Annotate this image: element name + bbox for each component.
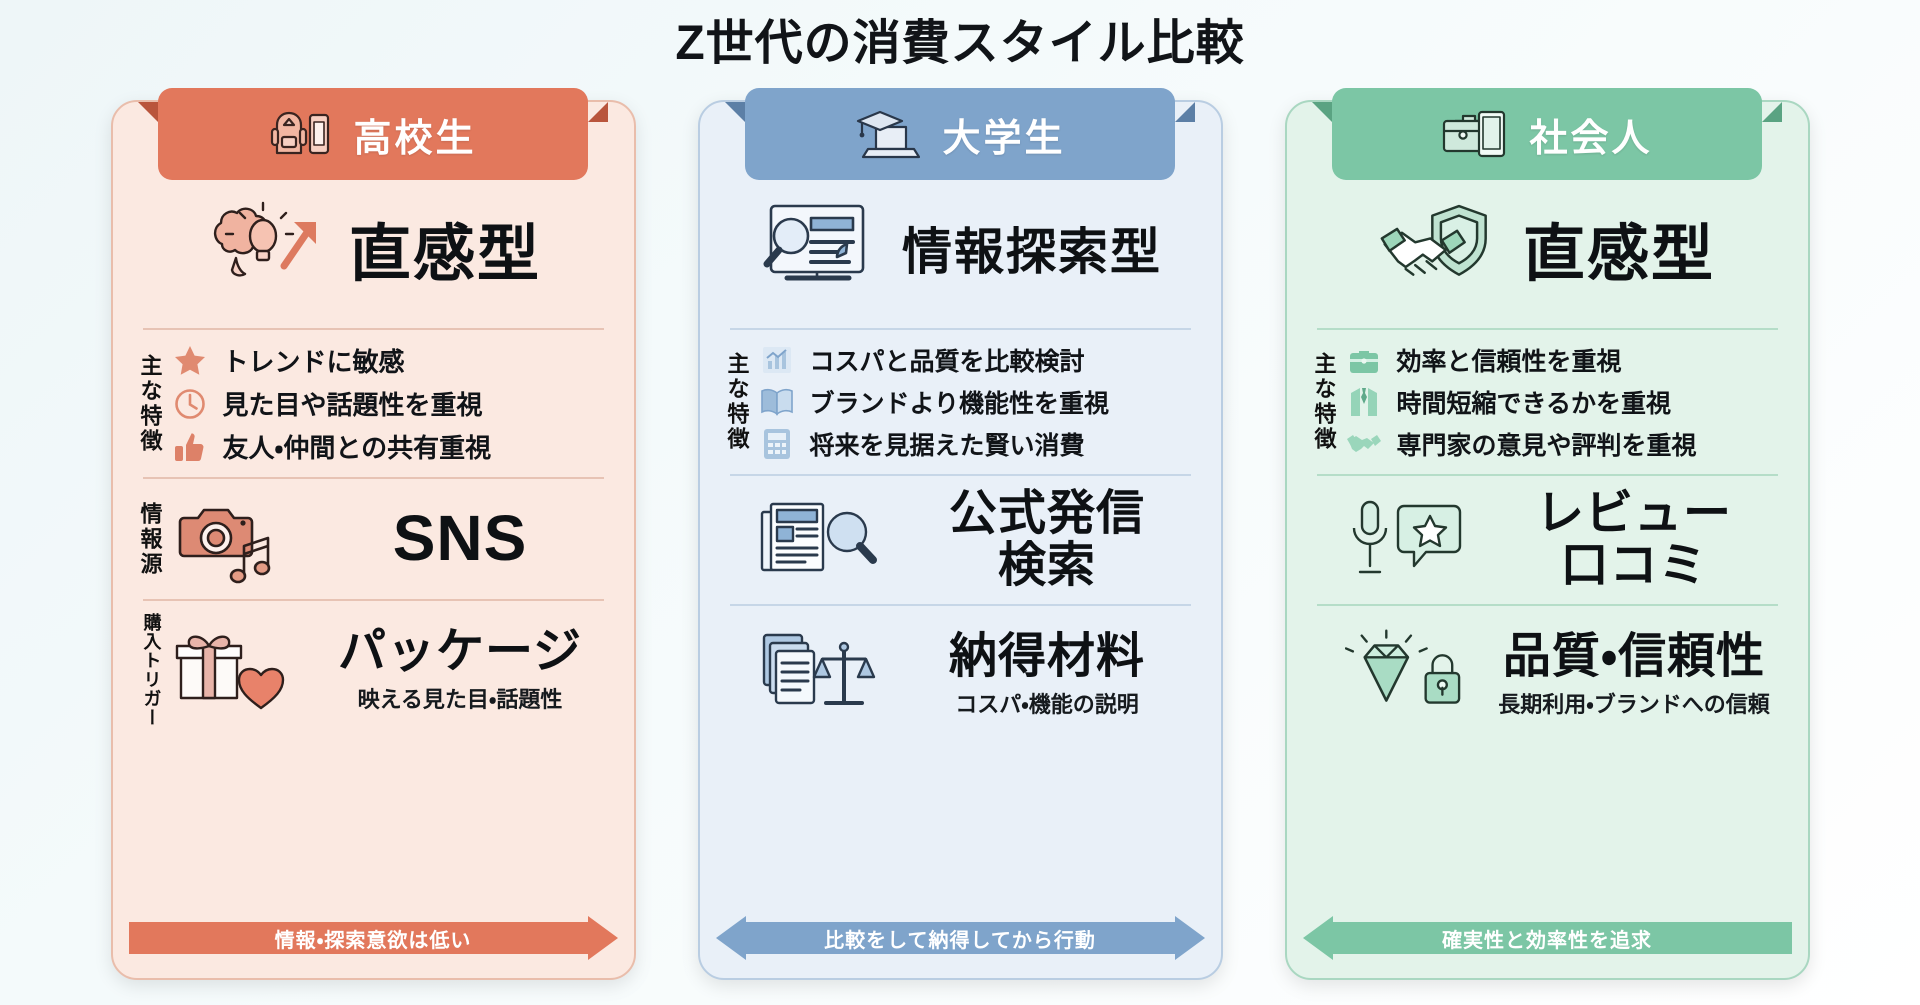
source-label: 情報源	[131, 502, 161, 577]
source-value: レビュー 口コミ	[1479, 488, 1790, 592]
source-value: SNS	[305, 504, 616, 573]
briefcase-icon	[1345, 343, 1383, 377]
handshake-shield-icon	[1379, 200, 1499, 296]
clock-icon	[171, 387, 209, 421]
source-main: 公式発信 検索	[892, 488, 1203, 592]
trigger-value: 納得材料 コスパ・機能の説明	[892, 631, 1203, 719]
feature-item: 専門家の意見や評判を重視	[1345, 426, 1790, 462]
card-ribbon-label: 大学生	[942, 107, 1065, 162]
handshake-icon	[1345, 427, 1383, 461]
source-section: 情報源	[700, 476, 1221, 604]
card-type-name: 情報探索型	[902, 212, 1162, 284]
card-ribbon-header: 高校生	[158, 88, 588, 180]
card-type-name: 直感型	[1523, 203, 1715, 293]
feature-item: 効率と信頼性を重視	[1345, 342, 1790, 378]
footer-wrap: 情報・探索意欲は低い	[113, 916, 634, 978]
newspaper-magnifier-icon	[758, 492, 878, 588]
star-icon	[171, 344, 209, 378]
features-label: 主な特徴	[718, 352, 748, 452]
trigger-section: 購入トリガー	[700, 606, 1221, 744]
camera-music-icon	[171, 491, 291, 587]
card-ribbon-label: 高校生	[353, 107, 476, 162]
feature-item: コスパと品質を比較検討	[758, 342, 1203, 378]
footer-text: 確実性と効率性を追求	[1442, 924, 1652, 953]
trigger-main: パッケージ	[305, 626, 616, 678]
feature-text: 将来を見据えた賢い消費	[810, 426, 1085, 462]
features-section: 主な特徴 トレンドに敏感 見た目や話題	[113, 330, 634, 477]
trigger-sub: 映える見た目・話題性	[305, 682, 616, 714]
arrow-head-right	[1175, 916, 1205, 960]
arrow-head-right	[588, 916, 618, 960]
trigger-main: 納得材料	[892, 631, 1203, 683]
microphone-review-icon	[1345, 492, 1465, 588]
trigger-main: 品質・信頼性	[1479, 631, 1790, 683]
bar-chart-icon	[758, 343, 796, 377]
feature-text: 時間短縮できるかを重視	[1397, 384, 1672, 420]
source-main: SNS	[393, 502, 528, 574]
features-section: 主な特徴 効率と信頼性を重視 時間短縮	[1287, 330, 1808, 474]
trigger-label: 購入トリガー	[131, 613, 161, 727]
features-label: 主な特徴	[1305, 352, 1335, 452]
footer-wrap: 比較をして納得してから行動	[700, 916, 1221, 978]
briefcase-tablet-icon	[1441, 107, 1507, 161]
monitor-search-icon	[758, 200, 878, 296]
infographic-page: Z世代の消費スタイル比較	[0, 0, 1920, 1005]
open-book-icon	[758, 385, 796, 419]
card-type-row: 情報探索型	[700, 168, 1221, 328]
footer-text: 比較をして納得してから行動	[824, 924, 1096, 953]
feature-text: 効率と信頼性を重視	[1397, 342, 1622, 378]
feature-text: コスパと品質を比較検討	[810, 342, 1085, 378]
arrow-head-left	[1303, 916, 1333, 960]
card-type-name: 直感型	[349, 203, 541, 293]
feature-text: 専門家の意見や評判を重視	[1397, 426, 1697, 462]
card-ribbon-label: 社会人	[1529, 107, 1652, 162]
card-type-row: 直感型	[113, 168, 634, 328]
feature-text: 見た目や話題性を重視	[223, 385, 483, 422]
card-ribbon-header: 社会人	[1332, 88, 1762, 180]
feature-item: トレンドに敏感	[171, 342, 616, 379]
features-section: 主な特徴 コスパと品質を比較検討 ブラ	[700, 330, 1221, 474]
footer-arrow: 情報・探索意欲は低い	[129, 916, 618, 960]
card-high-school: 高校生 直感型	[111, 100, 636, 980]
source-section: 情報源	[113, 479, 634, 599]
backpack-smartphone-icon	[269, 107, 331, 161]
footer-text: 情報・探索意欲は低い	[275, 924, 472, 953]
footer-wrap: 確実性と効率性を追求	[1287, 916, 1808, 978]
trigger-sub: コスパ・機能の説明	[892, 687, 1203, 719]
gift-heart-icon	[171, 622, 291, 718]
features-label: 主な特徴	[131, 354, 161, 454]
feature-item: 見た目や話題性を重視	[171, 385, 616, 422]
thumbs-up-icon	[171, 430, 209, 464]
brain-lightbulb-arrow-icon	[205, 200, 325, 296]
page-title: Z世代の消費スタイル比較	[0, 0, 1920, 71]
feature-item: 時間短縮できるかを重視	[1345, 384, 1790, 420]
source-main: レビュー 口コミ	[1479, 488, 1790, 592]
card-working-adult: 社会人 直感型	[1285, 100, 1810, 980]
card-type-row: 直感型	[1287, 168, 1808, 328]
trigger-section: 購入トリガー	[113, 601, 634, 739]
source-value: 公式発信 検索	[892, 488, 1203, 592]
footer-arrow: 確実性と効率性を追求	[1303, 916, 1792, 960]
diamond-lock-icon	[1345, 627, 1465, 723]
trigger-sub: 長期利用・ブランドへの信頼	[1479, 687, 1790, 719]
card-ribbon-header: 大学生	[745, 88, 1175, 180]
suit-tie-icon	[1345, 385, 1383, 419]
arrow-head-left	[716, 916, 746, 960]
feature-item: 将来を見据えた賢い消費	[758, 426, 1203, 462]
feature-text: ブランドより機能性を重視	[810, 384, 1110, 420]
feature-text: トレンドに敏感	[223, 342, 405, 379]
feature-item: 友人・仲間との共有重視	[171, 428, 616, 465]
documents-scale-icon	[758, 627, 878, 723]
trigger-value: パッケージ 映える見た目・話題性	[305, 626, 616, 714]
source-section: 情報源 レ	[1287, 476, 1808, 604]
cards-row: 高校生 直感型	[0, 100, 1920, 990]
feature-item: ブランドより機能性を重視	[758, 384, 1203, 420]
trigger-section: 購入トリガー	[1287, 606, 1808, 744]
graduation-cap-laptop-icon	[854, 107, 920, 161]
trigger-value: 品質・信頼性 長期利用・ブランドへの信頼	[1479, 631, 1790, 719]
card-university: 大学生	[698, 100, 1223, 980]
calculator-icon	[758, 427, 796, 461]
footer-arrow: 比較をして納得してから行動	[716, 916, 1205, 960]
feature-text: 友人・仲間との共有重視	[223, 428, 492, 465]
